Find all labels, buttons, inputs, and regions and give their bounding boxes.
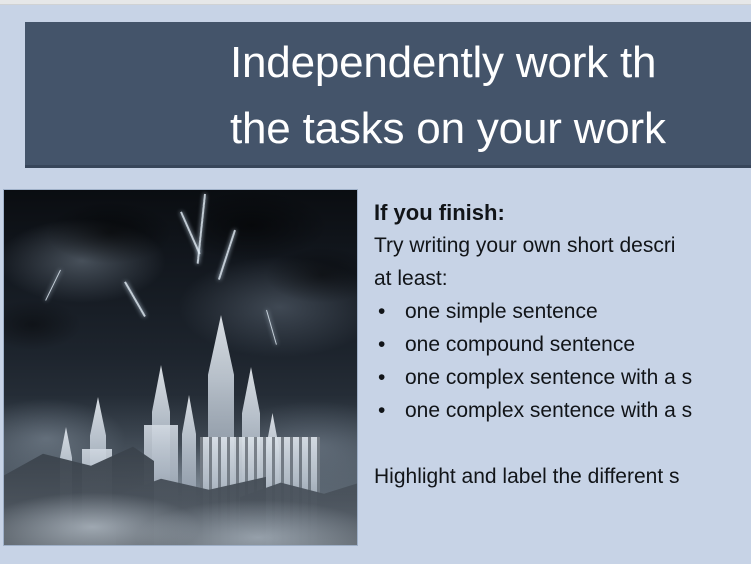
- bullet-marker-icon: •: [378, 295, 385, 328]
- list-item: • one complex sentence with a s: [374, 394, 751, 427]
- requirements-bullet-list: • one simple sentence • one compound sen…: [374, 295, 751, 427]
- list-item-label: one complex sentence with a s: [405, 399, 692, 422]
- presentation-slide: Independently work th the tasks on your …: [0, 0, 751, 564]
- body-text-block: If you finish: Try writing your own shor…: [374, 196, 751, 493]
- bullet-marker-icon: •: [378, 394, 385, 427]
- title-banner: Independently work th the tasks on your …: [25, 22, 751, 168]
- list-item: • one simple sentence: [374, 295, 751, 328]
- list-item-label: one simple sentence: [405, 300, 598, 323]
- list-item-label: one complex sentence with a s: [405, 366, 692, 389]
- top-edge-strip: [0, 0, 751, 5]
- body-heading: If you finish:: [374, 196, 751, 229]
- intro-line-1: Try writing your own short descri: [374, 229, 751, 262]
- slide-title: Independently work th the tasks on your …: [230, 30, 751, 162]
- castle-image: [3, 189, 358, 546]
- list-item: • one complex sentence with a s: [374, 361, 751, 394]
- text-spacer: [374, 427, 751, 460]
- list-item-label: one compound sentence: [405, 333, 635, 356]
- intro-line-2: at least:: [374, 262, 751, 295]
- bullet-marker-icon: •: [378, 328, 385, 361]
- list-item: • one compound sentence: [374, 328, 751, 361]
- title-line-2: the tasks on your work: [230, 96, 751, 162]
- bullet-marker-icon: •: [378, 361, 385, 394]
- title-line-1: Independently work th: [230, 30, 751, 96]
- castle-mist: [4, 395, 357, 545]
- closing-line: Highlight and label the different s: [374, 460, 751, 493]
